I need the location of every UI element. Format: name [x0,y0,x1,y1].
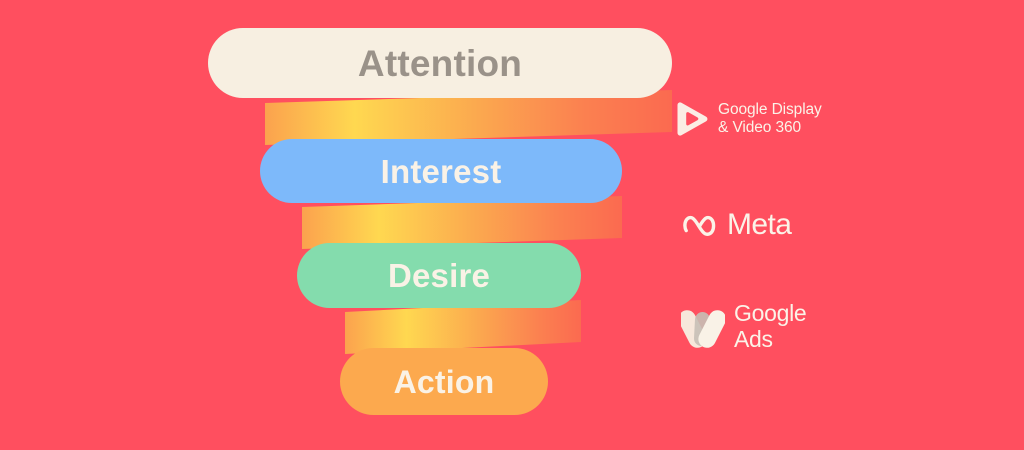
funnel-stage-action[interactable]: Action [340,348,548,415]
logo-meta-text: Meta [727,208,791,242]
connector-interest-desire [302,196,622,249]
meta-infinity-icon [683,212,721,238]
funnel-stage-desire-label: Desire [388,259,490,292]
logo-google-display-video-360-text: Google Display & Video 360 [718,101,822,136]
connector-attention-interest [265,90,672,145]
funnel-stage-attention-label: Attention [358,45,522,82]
funnel-stage-interest-label: Interest [381,155,502,188]
funnel-stage-action-label: Action [394,366,495,398]
funnel-stage-attention[interactable]: Attention [208,28,672,98]
funnel-stage-desire[interactable]: Desire [297,243,581,308]
logo-google-ads-text: Google Ads [734,300,806,352]
play-triangle-icon [672,102,710,136]
logo-google-display-video-360[interactable]: Google Display & Video 360 [672,101,822,136]
connector-desire-action [345,300,581,354]
logo-meta[interactable]: Meta [683,208,791,242]
logo-google-ads[interactable]: Google Ads [681,300,806,352]
aida-funnel-infographic: Attention Interest Desire Action Google … [0,0,1024,450]
google-ads-a-icon [681,303,725,349]
funnel-stage-interest[interactable]: Interest [260,139,622,203]
